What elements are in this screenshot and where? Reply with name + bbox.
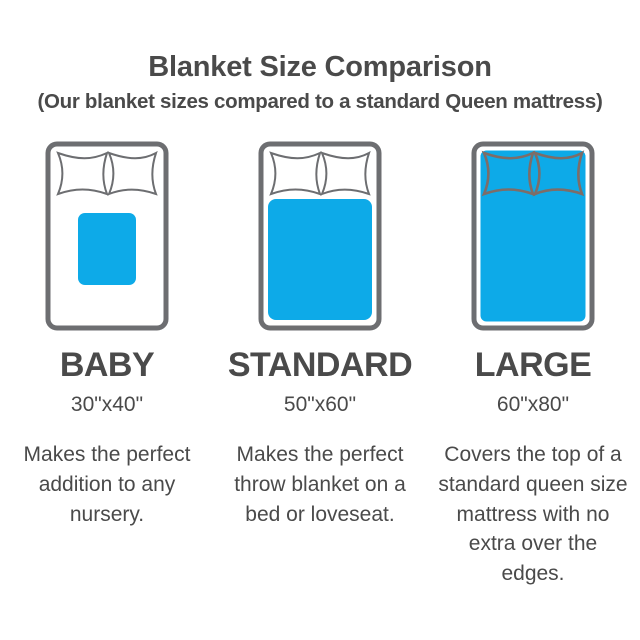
bed-top-view-icon <box>258 141 382 331</box>
pillow-left-icon <box>58 153 107 194</box>
size-name-baby: BABY <box>60 348 154 382</box>
bed-illustration-large <box>468 141 598 331</box>
size-dimensions-baby: 30"x40" <box>71 394 143 415</box>
size-dimensions-large: 60"x80" <box>497 394 569 415</box>
blanket-overlay-large <box>481 150 586 321</box>
bed-top-view-icon <box>471 141 595 331</box>
blanket-overlay-standard <box>268 199 372 320</box>
size-description-standard: Makes the perfect throw blanket on a bed… <box>222 440 418 529</box>
comparison-columns: BABY 30"x40" Makes the perfect addition … <box>0 141 640 589</box>
header: Blanket Size Comparison (Our blanket siz… <box>0 52 640 114</box>
pillow-left-icon <box>271 153 320 194</box>
page-title: Blanket Size Comparison <box>0 52 640 82</box>
size-description-large: Covers the top of a standard queen size … <box>435 440 631 589</box>
pillow-right-icon <box>109 153 156 194</box>
bed-illustration-baby <box>42 141 172 331</box>
comparison-column-large: LARGE 60"x80" Covers the top of a standa… <box>427 141 640 589</box>
blanket-overlay-baby <box>78 213 136 285</box>
comparison-column-baby: BABY 30"x40" Makes the perfect addition … <box>1 141 214 529</box>
size-name-standard: STANDARD <box>228 348 412 382</box>
size-dimensions-standard: 50"x60" <box>284 394 356 415</box>
blanket-size-comparison-infographic: Blanket Size Comparison (Our blanket siz… <box>0 0 640 640</box>
pillow-right-icon <box>322 153 369 194</box>
page-subtitle: (Our blanket sizes compared to a standar… <box>0 91 640 114</box>
comparison-column-standard: STANDARD 50"x60" Makes the perfect throw… <box>214 141 427 529</box>
size-description-baby: Makes the perfect addition to any nurser… <box>9 440 205 529</box>
size-name-large: LARGE <box>475 348 592 382</box>
bed-top-view-icon <box>45 141 169 331</box>
bed-illustration-standard <box>255 141 385 331</box>
